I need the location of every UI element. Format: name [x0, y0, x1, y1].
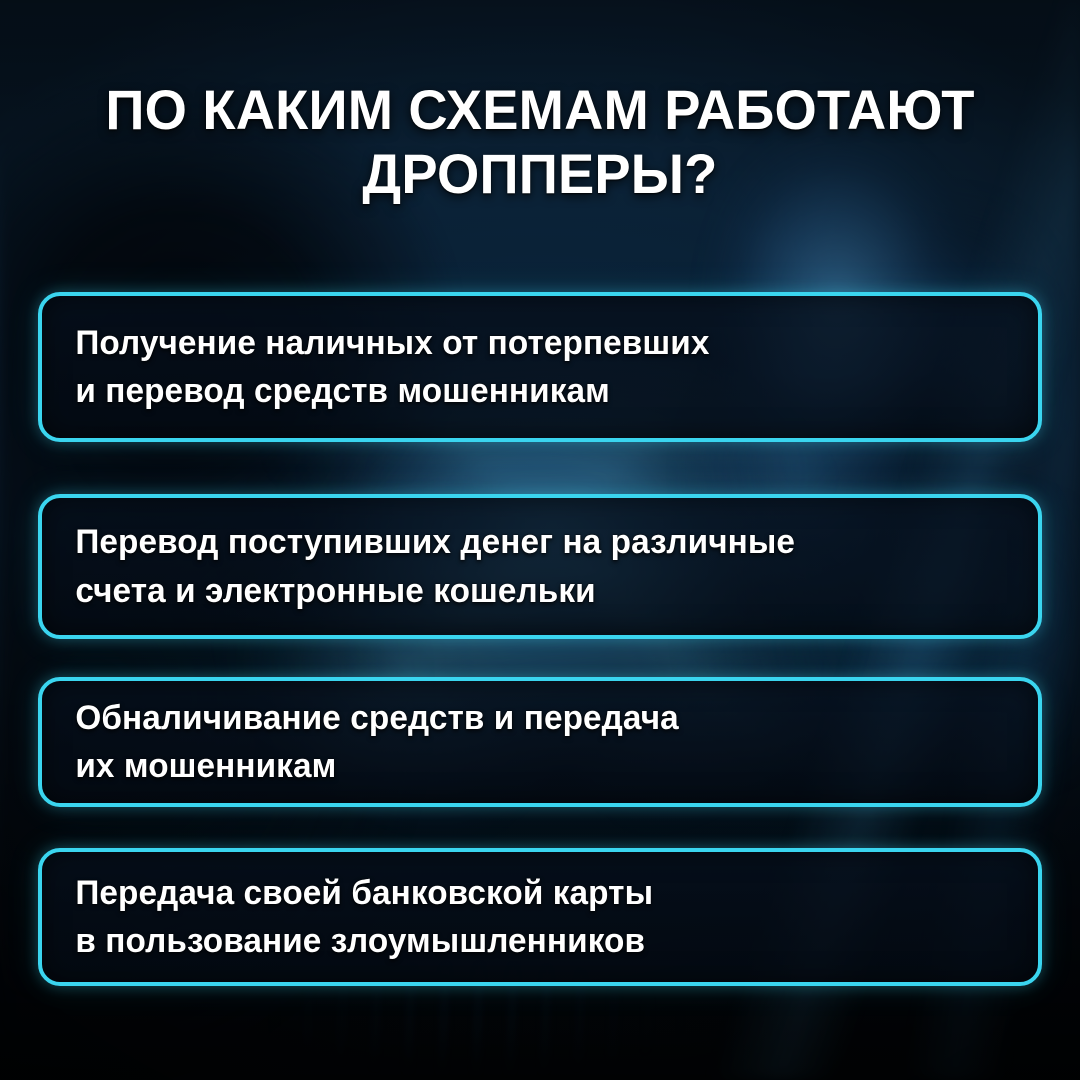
scheme-card-text: Получение наличных от потерпевших и пере…: [42, 319, 735, 416]
page-title: ПО КАКИМ СХЕМАМ РАБОТАЮТ ДРОППЕРЫ?: [74, 78, 1005, 206]
scheme-card-text: Перевод поступивших денег на различные с…: [42, 518, 821, 615]
page-title-line-2: ДРОППЕРЫ?: [74, 142, 1005, 206]
scheme-card: Перевод поступивших денег на различные с…: [38, 494, 1042, 639]
infographic-poster: ПО КАКИМ СХЕМАМ РАБОТАЮТ ДРОППЕРЫ? Получ…: [0, 0, 1080, 1080]
scheme-card-text: Обналичивание средств и передача их моше…: [42, 694, 704, 791]
scheme-card: Получение наличных от потерпевших и пере…: [38, 292, 1042, 442]
scheme-card-text: Передача своей банковской карты в пользо…: [42, 869, 679, 966]
scheme-card: Передача своей банковской карты в пользо…: [38, 848, 1042, 986]
page-title-line-1: ПО КАКИМ СХЕМАМ РАБОТАЮТ: [74, 78, 1005, 142]
scheme-card: Обналичивание средств и передача их моше…: [38, 677, 1042, 807]
poster-content: ПО КАКИМ СХЕМАМ РАБОТАЮТ ДРОППЕРЫ? Получ…: [0, 0, 1080, 1080]
